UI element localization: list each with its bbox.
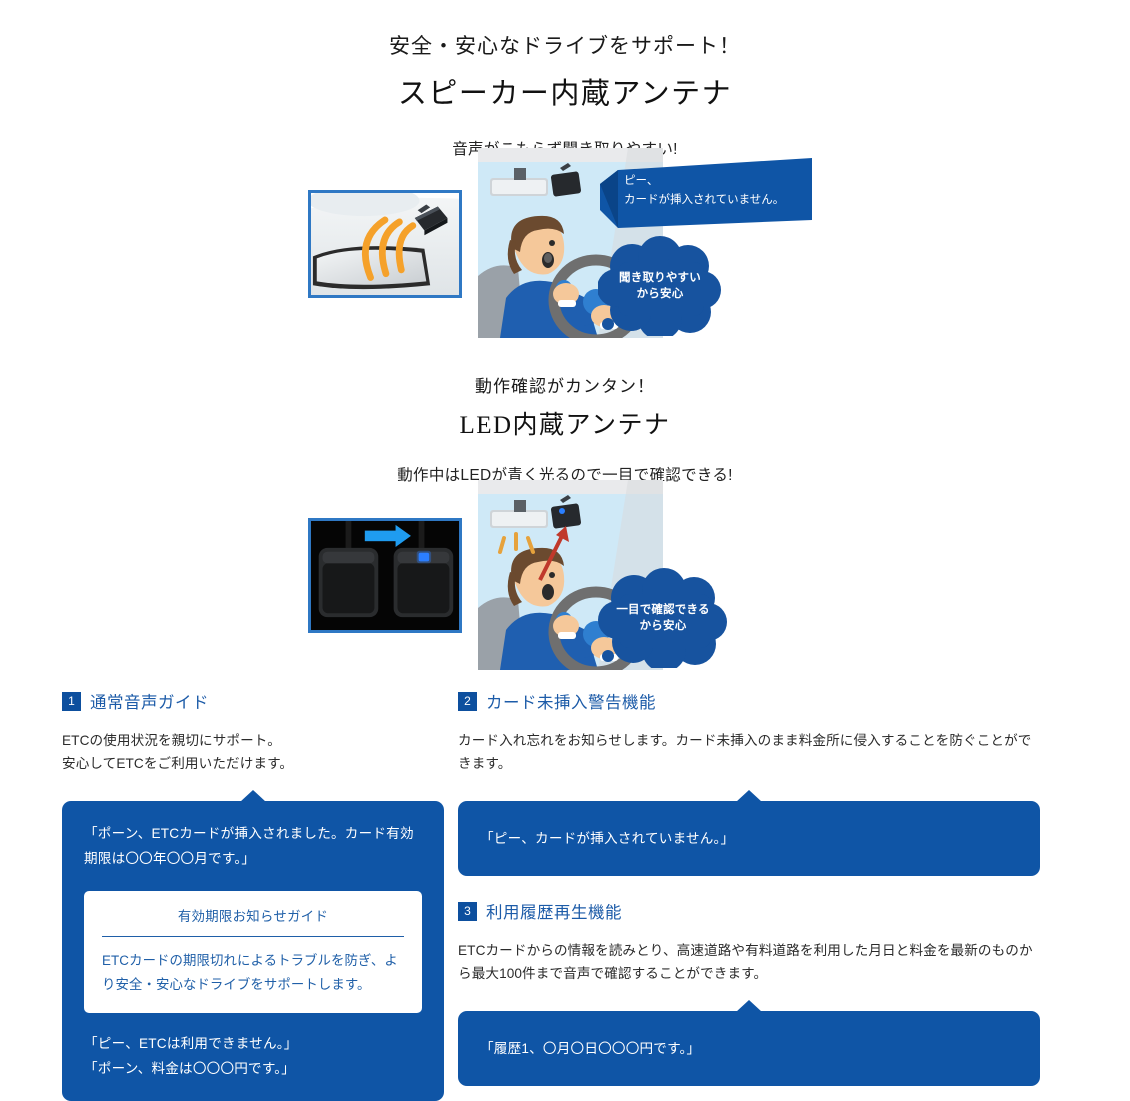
- section-speaker-heading: 安全・安心なドライブをサポート！ スピーカー内蔵アンテナ 音声がこもらず聞き取り…: [0, 30, 1130, 159]
- expiry-notice-body: ETCカードの期限切れによるトラブルを防ぎ、より安全・安心なドライブをサポートし…: [102, 949, 404, 997]
- rearview-mirror-antenna-photo: [308, 190, 462, 298]
- feature-1-title: 通常音声ガイド: [90, 689, 209, 713]
- feature-column-left: 1 通常音声ガイド ETCの使用状況を親切にサポート。 安心してETCをご利用い…: [62, 690, 444, 1101]
- feature-3: 3 利用履歴再生機能 ETCカードからの情報を読みとり、高速道路や有料道路を利用…: [458, 900, 1040, 1086]
- feature-column-right: 2 カード未挿入警告機能 カード入れ忘れをお知らせします。カード未挿入のまま料金…: [458, 690, 1040, 1086]
- feature-1-badge: 1: [62, 692, 81, 711]
- antenna-led-illustration: [311, 521, 459, 632]
- section-led-title: LED内蔵アンテナ: [0, 405, 1130, 441]
- section-speaker-eyebrow: 安全・安心なドライブをサポート！: [0, 30, 1130, 60]
- feature-3-callout: 「履歴1、〇月〇日〇〇〇円です。」: [458, 1011, 1040, 1086]
- expiry-notice-title: 有効期限お知らせガイド: [102, 905, 404, 937]
- feature-2: 2 カード未挿入警告機能 カード入れ忘れをお知らせします。カード未挿入のまま料金…: [458, 690, 1040, 876]
- antenna-unit-on: [394, 548, 454, 617]
- section-led-heading: 動作確認がカンタン！ LED内蔵アンテナ 動作中はLEDが青く光るので一目で確認…: [0, 372, 1130, 485]
- feature-2-body: カード入れ忘れをお知らせします。カード未挿入のまま料金所に侵入することを防ぐこと…: [458, 729, 1040, 775]
- feature-2-header: 2 カード未挿入警告機能: [458, 690, 1040, 712]
- section-speaker-title: スピーカー内蔵アンテナ: [0, 70, 1130, 112]
- expiry-notice-card: 有効期限お知らせガイド ETCカードの期限切れによるトラブルを防ぎ、より安全・安…: [84, 891, 422, 1013]
- feature-2-badge: 2: [458, 692, 477, 711]
- feature-1-header: 1 通常音声ガイド: [62, 690, 444, 712]
- flag-bubble-line-2: カードが挿入されていません。: [624, 191, 804, 210]
- feature-3-badge: 3: [458, 902, 477, 921]
- section-led-eyebrow: 動作確認がカンタン！: [0, 372, 1130, 397]
- speech-flag-card-not-inserted: ピー、 カードが挿入されていません。: [600, 158, 812, 234]
- cloud-bubble-line-1: 一目で確認できる: [598, 602, 728, 618]
- product-feature-page: 安全・安心なドライブをサポート！ スピーカー内蔵アンテナ 音声がこもらず聞き取り…: [0, 0, 1130, 1069]
- feature-2-title: カード未挿入警告機能: [486, 689, 656, 713]
- feature-2-callout-lead: 「ピー、カードが挿入されていません。」: [480, 826, 1018, 851]
- feature-1-callout: 「ポーン、ETCカードが挿入されました。カード有効期限は〇〇年〇〇月です。」 有…: [62, 801, 444, 1101]
- feature-2-callout: 「ピー、カードが挿入されていません。」: [458, 801, 1040, 876]
- antenna-unit-off: [319, 548, 379, 617]
- feature-1-tail-line-1: 「ピー、ETCは利用できません。」: [84, 1031, 422, 1056]
- led-indicator: [559, 508, 565, 514]
- antenna-led-comparison-photo: [308, 518, 462, 633]
- cloud-bubble-line-2: から安心: [598, 618, 728, 634]
- cloud-bubble-easy-to-hear: 聞き取りやすい から安心: [598, 236, 722, 336]
- mirror-antenna-illustration: [311, 193, 459, 297]
- feature-1-callout-lead: 「ポーン、ETCカードが挿入されました。カード有効期限は〇〇年〇〇月です。」: [84, 821, 422, 871]
- cloud-bubble-easy-to-check: 一目で確認できる から安心: [598, 568, 728, 668]
- cloud-bubble-line-2: から安心: [598, 286, 722, 302]
- flag-bubble-line-1: ピー、: [624, 172, 804, 191]
- feature-3-header: 3 利用履歴再生機能: [458, 900, 1040, 922]
- feature-1-callout-tail: 「ピー、ETCは利用できません。」 「ポーン、料金は〇〇〇円です。」: [84, 1031, 422, 1081]
- feature-3-title: 利用履歴再生機能: [486, 899, 622, 923]
- cloud-bubble-line-1: 聞き取りやすい: [598, 270, 722, 286]
- feature-3-body: ETCカードからの情報を読みとり、高速道路や有料道路を利用した月日と料金を最新の…: [458, 939, 1040, 985]
- feature-1-body: ETCの使用状況を親切にサポート。 安心してETCをご利用いただけます。: [62, 729, 444, 775]
- feature-3-callout-lead: 「履歴1、〇月〇日〇〇〇円です。」: [480, 1036, 1018, 1061]
- feature-1: 1 通常音声ガイド ETCの使用状況を親切にサポート。 安心してETCをご利用い…: [62, 690, 444, 1101]
